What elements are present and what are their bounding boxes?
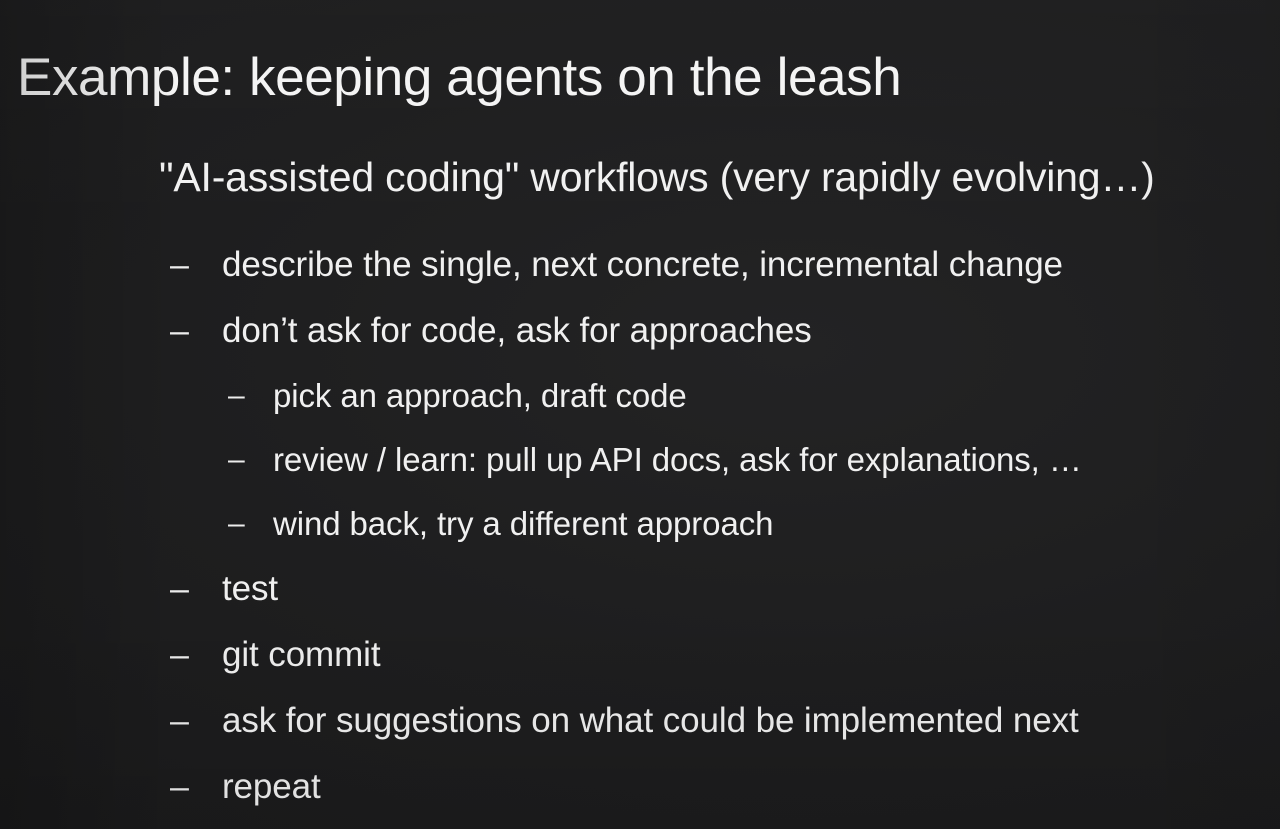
bullet-item: –describe the single, next concrete, inc… [0, 243, 1280, 309]
bullet-dash-icon: – [170, 243, 222, 287]
bullet-text: test [222, 567, 278, 611]
bullet-list: –describe the single, next concrete, inc… [0, 243, 1280, 829]
bullet-dash-icon: – [170, 765, 222, 809]
bullet-text: pick an approach, draft code [273, 375, 687, 417]
page-title: Example: keeping agents on the leash [17, 48, 901, 107]
bullet-text: repeat [222, 765, 321, 809]
bullet-dash-icon: – [170, 699, 222, 743]
bullet-dash-icon: – [170, 633, 222, 677]
bullet-item: –wind back, try a different approach [0, 503, 1280, 567]
bullet-text: git commit [222, 633, 380, 677]
bullet-text: ask for suggestions on what could be imp… [222, 699, 1079, 743]
bullet-dash-icon: – [228, 439, 273, 481]
slide-canvas: Example: keeping agents on the leash "AI… [0, 0, 1280, 829]
bullet-item: –don’t ask for code, ask for approaches [0, 309, 1280, 375]
bullet-text: review / learn: pull up API docs, ask fo… [273, 439, 1082, 481]
bullet-item: –ask for suggestions on what could be im… [0, 699, 1280, 765]
bullet-dash-icon: – [170, 309, 222, 353]
bullet-item: –git commit [0, 633, 1280, 699]
bullet-dash-icon: – [228, 375, 273, 417]
bullet-dash-icon: – [228, 503, 273, 545]
bullet-item: –repeat [0, 765, 1280, 829]
bullet-text: describe the single, next concrete, incr… [222, 243, 1063, 287]
bullet-text: wind back, try a different approach [273, 503, 773, 545]
bullet-item: –pick an approach, draft code [0, 375, 1280, 439]
bullet-item: –test [0, 567, 1280, 633]
bullet-text: don’t ask for code, ask for approaches [222, 309, 812, 353]
bullet-dash-icon: – [170, 567, 222, 611]
bullet-item: –review / learn: pull up API docs, ask f… [0, 439, 1280, 503]
slide-subheading: "AI-assisted coding" workflows (very rap… [159, 155, 1155, 201]
